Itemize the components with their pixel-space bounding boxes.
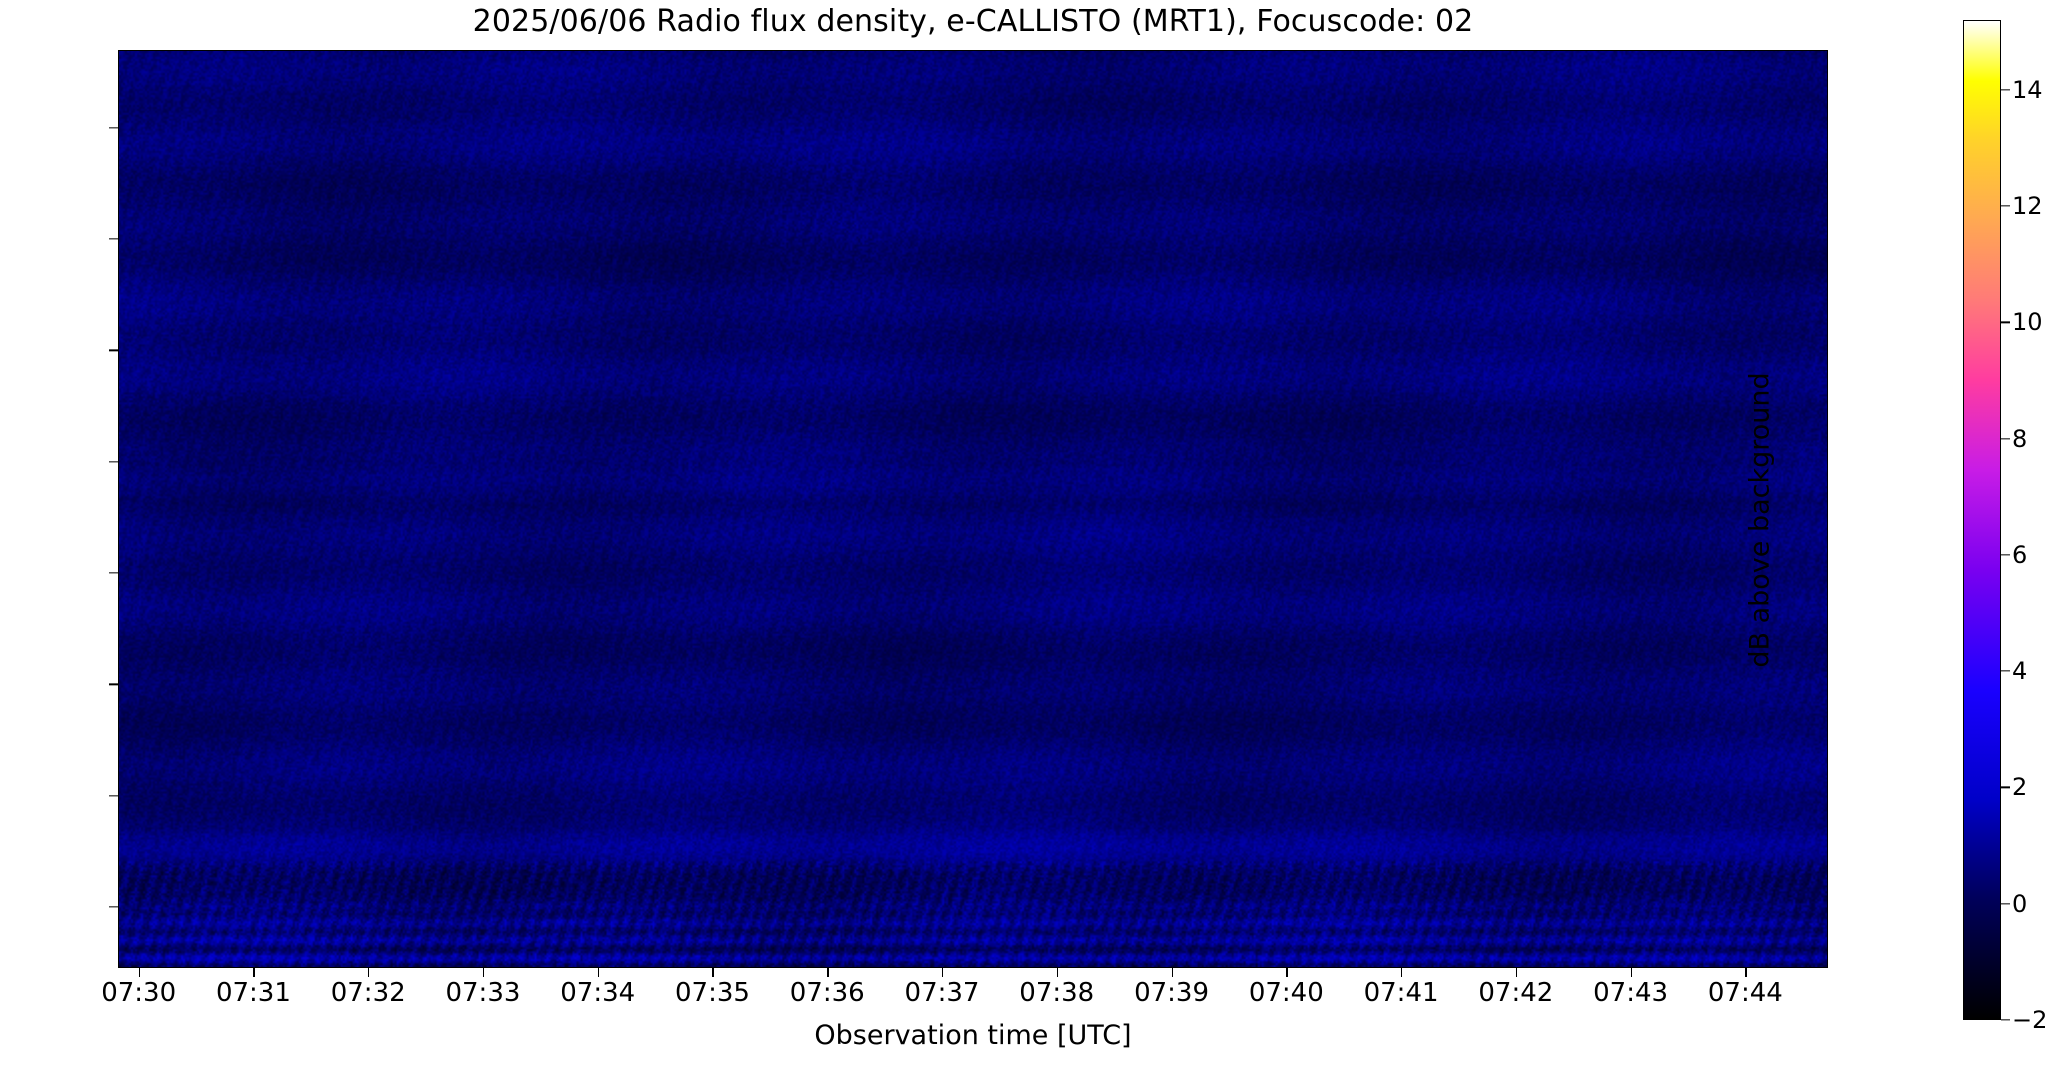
colorbar-tick-mark [2001, 1019, 2010, 1020]
colorbar-tick-mark [2001, 322, 2010, 323]
y-tick-mark [109, 350, 118, 351]
x-tick-mark [139, 968, 140, 977]
x-tick-mark [1172, 968, 1173, 977]
x-tick-label: 07:33 [445, 978, 520, 1008]
x-tick-mark [1057, 968, 1058, 977]
x-tick-mark [827, 968, 828, 977]
colorbar-tick-mark [2001, 89, 2010, 90]
colorbar-tick-label: 4 [2012, 657, 2027, 685]
x-tick-mark [253, 968, 254, 977]
page-title: 2025/06/06 Radio flux density, e-CALLIST… [118, 2, 1828, 42]
x-tick-label: 07:31 [216, 978, 291, 1008]
y-tick-mark [109, 906, 118, 907]
colorbar-tick-label: 8 [2012, 425, 2027, 453]
y-tick-mark [109, 239, 118, 240]
colorbar-label: dB above background [1745, 20, 1776, 1020]
y-tick-mark [109, 461, 118, 462]
colorbar-tick-mark [2001, 671, 2010, 672]
x-tick-label: 07:37 [905, 978, 980, 1008]
y-tick-mark [109, 127, 118, 128]
x-tick-label: 07:39 [1134, 978, 1209, 1008]
x-tick-mark [368, 968, 369, 977]
x-tick-mark [942, 968, 943, 977]
colorbar-tick-mark [2001, 205, 2010, 206]
x-tick-label: 07:40 [1249, 978, 1324, 1008]
y-tick-mark [109, 684, 118, 685]
colorbar[interactable] [1963, 20, 2001, 1020]
colorbar-tick-mark [2001, 903, 2010, 904]
colorbar-tick-mark [2001, 787, 2010, 788]
x-tick-mark [712, 968, 713, 977]
colorbar-tick-label: 10 [2012, 308, 2043, 336]
x-tick-mark [1516, 968, 1517, 977]
colorbar-tick-label: 2 [2012, 773, 2027, 801]
x-axis-label: Observation time [UTC] [118, 1020, 1828, 1051]
x-tick-label: 07:35 [675, 978, 750, 1008]
x-tick-mark [1631, 968, 1632, 977]
x-tick-mark [483, 968, 484, 977]
colorbar-tick-label: 6 [2012, 541, 2027, 569]
x-tick-mark [1286, 968, 1287, 977]
colorbar-tick-label: 12 [2012, 192, 2043, 220]
x-tick-mark [598, 968, 599, 977]
x-tick-label: 07:32 [331, 978, 406, 1008]
spectrogram-image [119, 51, 1827, 967]
spectrogram-figure: 2025/06/06 Radio flux density, e-CALLIST… [0, 0, 2066, 1067]
colorbar-tick-label: 0 [2012, 890, 2027, 918]
colorbar-tick-mark [2001, 438, 2010, 439]
x-tick-label: 07:36 [790, 978, 865, 1008]
colorbar-gradient [1964, 21, 2000, 1019]
x-tick-mark [1401, 968, 1402, 977]
y-tick-mark [109, 572, 118, 573]
x-tick-label: 07:38 [1019, 978, 1094, 1008]
x-tick-label: 07:42 [1478, 978, 1553, 1008]
spectrogram-plot-area[interactable] [118, 50, 1828, 968]
x-tick-label: 07:34 [560, 978, 635, 1008]
x-tick-label: 07:30 [101, 978, 176, 1008]
x-tick-label: 07:43 [1593, 978, 1668, 1008]
y-tick-mark [109, 795, 118, 796]
colorbar-tick-label: −2 [2012, 1006, 2047, 1034]
colorbar-tick-label: 14 [2012, 76, 2043, 104]
colorbar-tick-mark [2001, 554, 2010, 555]
x-tick-label: 07:41 [1364, 978, 1439, 1008]
